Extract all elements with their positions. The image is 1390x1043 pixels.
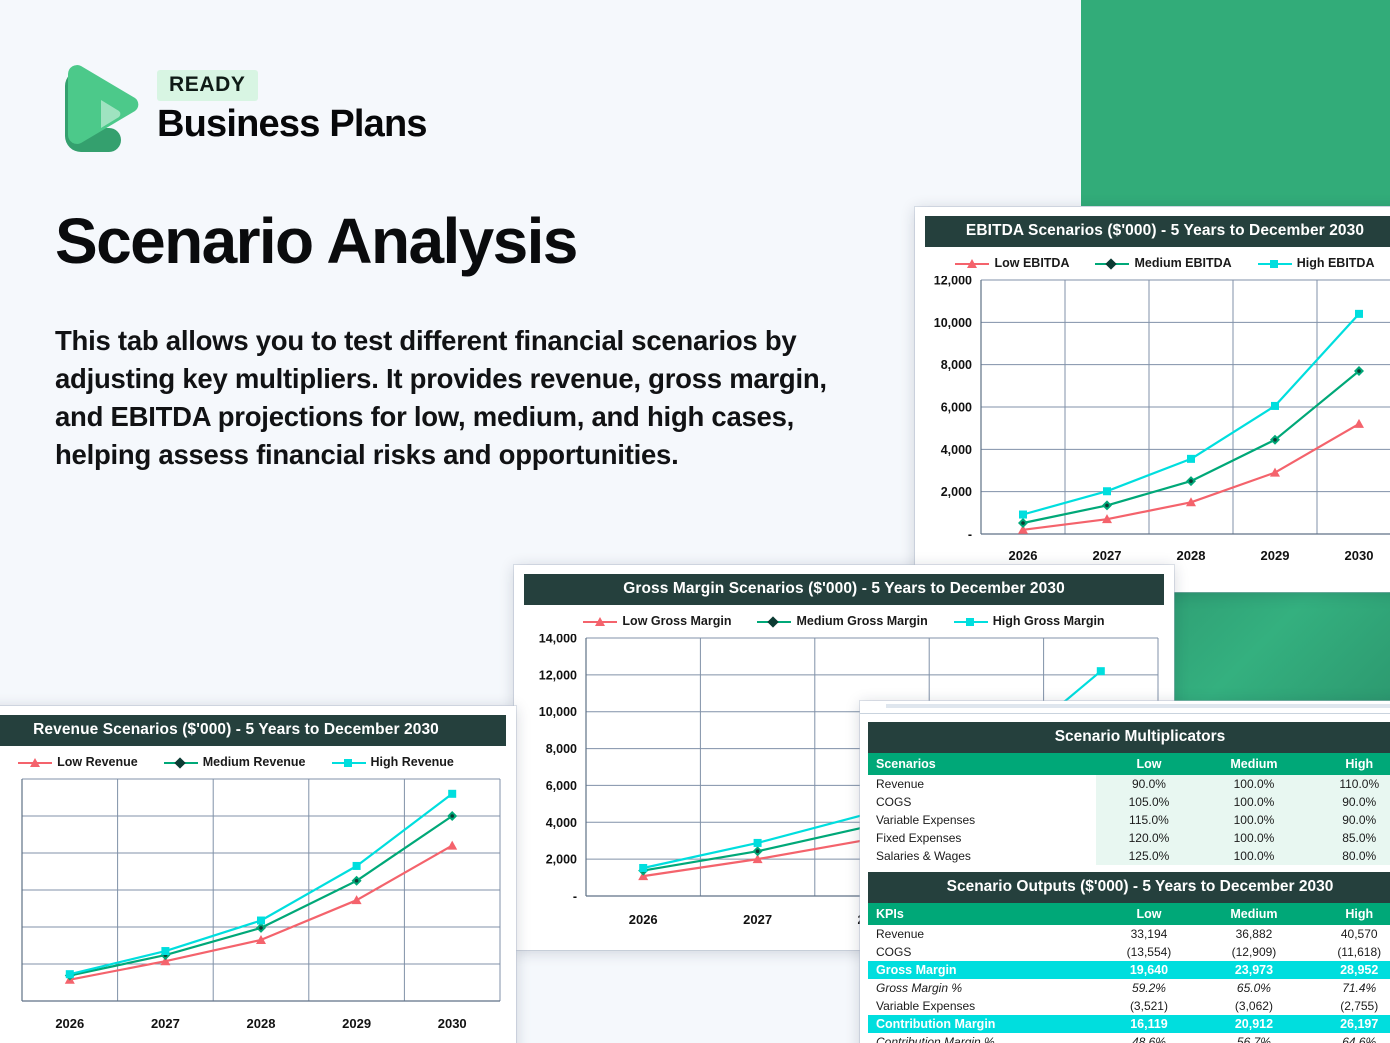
cell-low: 59.2% bbox=[1096, 979, 1201, 997]
cell-low: (13,554) bbox=[1096, 943, 1201, 961]
legend-marker-triangle-icon bbox=[955, 258, 989, 269]
svg-text:12,000: 12,000 bbox=[539, 668, 577, 682]
table-row: Contribution Margin %48.6%56.7%64.6% bbox=[868, 1033, 1390, 1043]
row-label: Variable Expenses bbox=[868, 811, 1096, 829]
row-label: Variable Expenses bbox=[868, 997, 1096, 1015]
table-row: COGS105.0%100.0%90.0% bbox=[868, 793, 1390, 811]
svg-text:14,000: 14,000 bbox=[539, 634, 577, 646]
svg-text:2030: 2030 bbox=[438, 1016, 467, 1031]
legend-label: Medium Revenue bbox=[203, 755, 306, 769]
legend-item-low-ebitda: Low EBITDA bbox=[955, 256, 1069, 270]
gross-margin-chart-title: Gross Margin Scenarios ($'000) - 5 Years… bbox=[524, 574, 1164, 605]
ready-badge: READY bbox=[157, 70, 258, 101]
cell-high: 71.4% bbox=[1306, 979, 1390, 997]
legend-label: Low Gross Margin bbox=[622, 614, 731, 628]
legend-item-high-revenue: High Revenue bbox=[332, 755, 454, 769]
cell-medium: (12,909) bbox=[1201, 943, 1306, 961]
legend-marker-square-icon bbox=[332, 757, 366, 768]
svg-text:6,000: 6,000 bbox=[546, 779, 577, 793]
svg-text:8,000: 8,000 bbox=[941, 358, 972, 372]
row-label: Revenue bbox=[868, 775, 1096, 793]
legend-item-medium-ebitda: Medium EBITDA bbox=[1095, 256, 1231, 270]
svg-text:2026: 2026 bbox=[1009, 548, 1038, 563]
svg-text:-: - bbox=[968, 528, 972, 542]
legend-label: Low Revenue bbox=[57, 755, 138, 769]
table-row: Gross Margin %59.2%65.0%71.4% bbox=[868, 979, 1390, 997]
legend-label: High Revenue bbox=[371, 755, 454, 769]
svg-text:8,000: 8,000 bbox=[546, 742, 577, 756]
cell-medium: 100.0% bbox=[1201, 811, 1306, 829]
row-label: Gross Margin bbox=[868, 961, 1096, 979]
legend-marker-triangle-icon bbox=[583, 616, 617, 627]
svg-text:2029: 2029 bbox=[342, 1016, 371, 1031]
row-label: Contribution Margin % bbox=[868, 1033, 1096, 1043]
svg-text:2026: 2026 bbox=[629, 912, 658, 927]
cell-low: (3,521) bbox=[1096, 997, 1201, 1015]
col-scenarios: Scenarios bbox=[868, 753, 1096, 775]
svg-text:10,000: 10,000 bbox=[539, 705, 577, 719]
cell-low: 33,194 bbox=[1096, 925, 1201, 943]
table-row: Salaries & Wages125.0%100.0%80.0% bbox=[868, 847, 1390, 865]
scenario-outputs-table: KPIs Low Medium High Revenue33,19436,882… bbox=[868, 903, 1390, 1043]
cell-medium: 36,882 bbox=[1201, 925, 1306, 943]
table-row: Variable Expenses115.0%100.0%90.0% bbox=[868, 811, 1390, 829]
legend-item-high-ebitda: High EBITDA bbox=[1258, 256, 1375, 270]
ebitda-plot: -2,0004,0006,0008,00010,00012,0002026202… bbox=[925, 276, 1390, 576]
table-row: Revenue33,19436,88240,570 bbox=[868, 925, 1390, 943]
legend-item-medium-gross-margin: Medium Gross Margin bbox=[757, 614, 927, 628]
svg-text:2026: 2026 bbox=[55, 1016, 84, 1031]
cell-high: 110.0% bbox=[1306, 775, 1390, 793]
table-row: Fixed Expenses120.0%100.0%85.0% bbox=[868, 829, 1390, 847]
multiplicators-title: Scenario Multiplicators bbox=[868, 722, 1390, 753]
svg-text:6,000: 6,000 bbox=[941, 401, 972, 415]
outputs-title: Scenario Outputs ($'000) - 5 Years to De… bbox=[868, 872, 1390, 903]
revenue-legend: Low Revenue Medium Revenue High Revenue bbox=[0, 746, 506, 775]
ebitda-chart-card: EBITDA Scenarios ($'000) - 5 Years to De… bbox=[915, 207, 1390, 592]
svg-text:2027: 2027 bbox=[743, 912, 772, 927]
revenue-chart-title: Revenue Scenarios ($'000) - 5 Years to D… bbox=[0, 715, 506, 746]
row-label: Contribution Margin bbox=[868, 1015, 1096, 1033]
cell-medium: 100.0% bbox=[1201, 847, 1306, 865]
cell-medium: 56.7% bbox=[1201, 1033, 1306, 1043]
ebitda-legend: Low EBITDA Medium EBITDA High EBITDA bbox=[925, 247, 1390, 276]
svg-text:12,000: 12,000 bbox=[934, 276, 972, 288]
brand-name: Business Plans bbox=[157, 105, 427, 145]
gross-margin-legend: Low Gross Margin Medium Gross Margin Hig… bbox=[524, 605, 1164, 634]
svg-text:2,000: 2,000 bbox=[546, 853, 577, 867]
row-label: Revenue bbox=[868, 925, 1096, 943]
col-kpis: KPIs bbox=[868, 903, 1096, 925]
legend-item-low-gross-margin: Low Gross Margin bbox=[583, 614, 731, 628]
row-label: Fixed Expenses bbox=[868, 829, 1096, 847]
cell-high: 80.0% bbox=[1306, 847, 1390, 865]
row-label: Salaries & Wages bbox=[868, 847, 1096, 865]
scenario-tables-card: Scenario Multiplicators Scenarios Low Me… bbox=[860, 701, 1390, 1043]
row-label: COGS bbox=[868, 943, 1096, 961]
table-row: Gross Margin19,64023,97328,952 bbox=[868, 961, 1390, 979]
legend-marker-diamond-icon bbox=[164, 757, 198, 768]
revenue-plot: 20262027202820292030 bbox=[0, 775, 506, 1043]
cell-low: 16,119 bbox=[1096, 1015, 1201, 1033]
cell-high: 26,197 bbox=[1306, 1015, 1390, 1033]
cell-medium: (3,062) bbox=[1201, 997, 1306, 1015]
legend-label: High Gross Margin bbox=[993, 614, 1105, 628]
col-medium: Medium bbox=[1201, 903, 1306, 925]
cell-medium: 23,973 bbox=[1201, 961, 1306, 979]
cell-high: 90.0% bbox=[1306, 793, 1390, 811]
col-high: High bbox=[1306, 903, 1390, 925]
table-row: Variable Expenses(3,521)(3,062)(2,755) bbox=[868, 997, 1390, 1015]
legend-label: Medium Gross Margin bbox=[796, 614, 927, 628]
svg-text:-: - bbox=[573, 890, 577, 904]
cell-low: 48.6% bbox=[1096, 1033, 1201, 1043]
cell-high: 40,570 bbox=[1306, 925, 1390, 943]
svg-text:4,000: 4,000 bbox=[546, 816, 577, 830]
legend-label: Medium EBITDA bbox=[1134, 256, 1231, 270]
cell-low: 90.0% bbox=[1096, 775, 1201, 793]
cell-medium: 20,912 bbox=[1201, 1015, 1306, 1033]
cell-high: 90.0% bbox=[1306, 811, 1390, 829]
cell-low: 125.0% bbox=[1096, 847, 1201, 865]
decorative-green-block-top-right bbox=[1081, 0, 1390, 206]
svg-text:2029: 2029 bbox=[1261, 548, 1290, 563]
cell-low: 120.0% bbox=[1096, 829, 1201, 847]
cell-high: 64.6% bbox=[1306, 1033, 1390, 1043]
svg-text:2030: 2030 bbox=[1345, 548, 1374, 563]
col-medium: Medium bbox=[1201, 753, 1306, 775]
legend-marker-square-icon bbox=[1258, 258, 1292, 269]
svg-text:2028: 2028 bbox=[247, 1016, 276, 1031]
legend-label: High EBITDA bbox=[1297, 256, 1375, 270]
cell-high: 85.0% bbox=[1306, 829, 1390, 847]
legend-item-medium-revenue: Medium Revenue bbox=[164, 755, 306, 769]
legend-item-high-gross-margin: High Gross Margin bbox=[954, 614, 1105, 628]
row-label: Gross Margin % bbox=[868, 979, 1096, 997]
revenue-chart-card: Revenue Scenarios ($'000) - 5 Years to D… bbox=[0, 706, 516, 1043]
svg-text:2027: 2027 bbox=[151, 1016, 180, 1031]
cell-low: 115.0% bbox=[1096, 811, 1201, 829]
ebitda-chart-title: EBITDA Scenarios ($'000) - 5 Years to De… bbox=[925, 216, 1390, 247]
legend-marker-square-icon bbox=[954, 616, 988, 627]
svg-text:2,000: 2,000 bbox=[941, 485, 972, 499]
svg-text:10,000: 10,000 bbox=[934, 316, 972, 330]
cell-high: (11,618) bbox=[1306, 943, 1390, 961]
legend-item-low-revenue: Low Revenue bbox=[18, 755, 138, 769]
legend-marker-diamond-icon bbox=[1095, 258, 1129, 269]
cell-medium: 100.0% bbox=[1201, 793, 1306, 811]
col-high: High bbox=[1306, 753, 1390, 775]
cell-medium: 65.0% bbox=[1201, 979, 1306, 997]
table-header-row: KPIs Low Medium High bbox=[868, 903, 1390, 925]
col-low: Low bbox=[1096, 903, 1201, 925]
cell-low: 19,640 bbox=[1096, 961, 1201, 979]
svg-text:4,000: 4,000 bbox=[941, 443, 972, 457]
brand-logo: READY Business Plans bbox=[55, 58, 427, 156]
table-row: COGS(13,554)(12,909)(11,618) bbox=[868, 943, 1390, 961]
svg-text:2028: 2028 bbox=[1177, 548, 1206, 563]
page-description: This tab allows you to test different fi… bbox=[55, 322, 855, 474]
legend-marker-triangle-icon bbox=[18, 757, 52, 768]
table-row: Contribution Margin16,11920,91226,197 bbox=[868, 1015, 1390, 1033]
cell-high: 28,952 bbox=[1306, 961, 1390, 979]
row-label: COGS bbox=[868, 793, 1096, 811]
decorative-green-block-middle-right bbox=[1168, 586, 1390, 701]
scenario-multiplicators-table: Scenarios Low Medium High Revenue90.0%10… bbox=[868, 753, 1390, 865]
cell-low: 105.0% bbox=[1096, 793, 1201, 811]
table-row: Revenue90.0%100.0%110.0% bbox=[868, 775, 1390, 793]
sheet-strip bbox=[860, 704, 1390, 714]
svg-text:2027: 2027 bbox=[1093, 548, 1122, 563]
cell-medium: 100.0% bbox=[1201, 775, 1306, 793]
legend-marker-diamond-icon bbox=[757, 616, 791, 627]
cell-high: (2,755) bbox=[1306, 997, 1390, 1015]
table-header-row: Scenarios Low Medium High bbox=[868, 753, 1390, 775]
play-triangle-logo-icon bbox=[55, 58, 139, 156]
col-low: Low bbox=[1096, 753, 1201, 775]
page-title: Scenario Analysis bbox=[55, 208, 577, 275]
legend-label: Low EBITDA bbox=[994, 256, 1069, 270]
cell-medium: 100.0% bbox=[1201, 829, 1306, 847]
